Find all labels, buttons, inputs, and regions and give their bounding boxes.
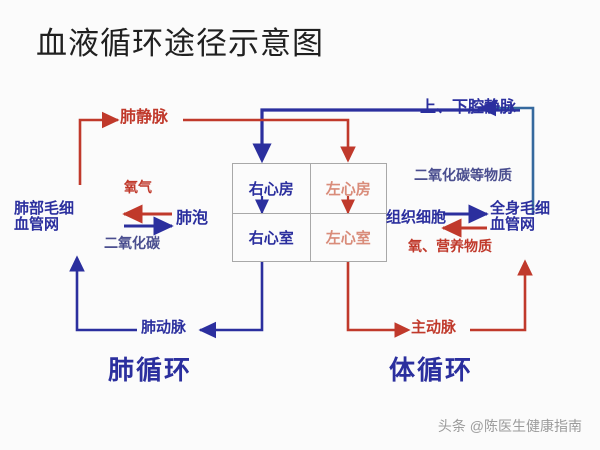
arrow-venacava-to-right-atrium	[262, 110, 520, 160]
label-oxygen-nutrients: 氧、营养物质	[408, 241, 492, 256]
heart-diagram: 右心房 左心房 右心室 左心室	[232, 163, 387, 262]
label-lung-capillary-network: 肺部毛细血管网	[14, 202, 74, 234]
heart-cell-label: 左心室	[326, 227, 371, 248]
heart-cell-right-ventricle: 右心室	[233, 213, 310, 262]
heart-cell-left-atrium: 左心房	[310, 164, 387, 213]
label-carbon-dioxide-etc: 二氧化碳等物质	[414, 170, 512, 185]
watermark: 头条 @陈医生健康指南	[438, 416, 582, 436]
arrow-body-capillary-to-venacava	[480, 108, 533, 215]
label-vena-cava: 上、下腔静脉	[420, 100, 516, 117]
label-aorta: 主动脉	[411, 321, 456, 337]
label-systemic-circulation: 体循环	[389, 357, 473, 384]
label-pulmonary-circulation: 肺循环	[108, 357, 192, 384]
heart-cell-label: 右心房	[249, 178, 294, 199]
diagram-canvas: 血液循环途径示意图	[0, 0, 600, 450]
label-pulmonary-vein: 肺静脉	[120, 110, 168, 127]
arrow-right-ventricle-to-pulmonary-artery	[200, 262, 262, 330]
arrow-pulmonary-vein-to-left-atrium	[183, 120, 348, 160]
arrow-lung-capillary-to-pulmonary-vein	[80, 120, 118, 185]
heart-cell-right-atrium: 右心房	[233, 164, 310, 213]
label-tissue-cells: 组织细胞	[386, 211, 446, 227]
label-body-capillary-network: 全身毛细血管网	[490, 202, 550, 234]
label-carbon-dioxide: 二氧化碳	[104, 238, 160, 253]
arrow-pulmonary-artery-to-lung-capillary	[77, 258, 137, 330]
arrow-aorta-to-body-capillary	[470, 262, 525, 330]
label-pulmonary-artery: 肺动脉	[141, 321, 186, 337]
label-oxygen: 氧气	[124, 182, 152, 197]
heart-cell-label: 左心房	[326, 178, 371, 199]
label-alveoli: 肺泡	[176, 211, 208, 228]
heart-cell-left-ventricle: 左心室	[310, 213, 387, 262]
arrow-left-ventricle-to-aorta	[348, 262, 408, 330]
heart-cell-label: 右心室	[249, 227, 294, 248]
